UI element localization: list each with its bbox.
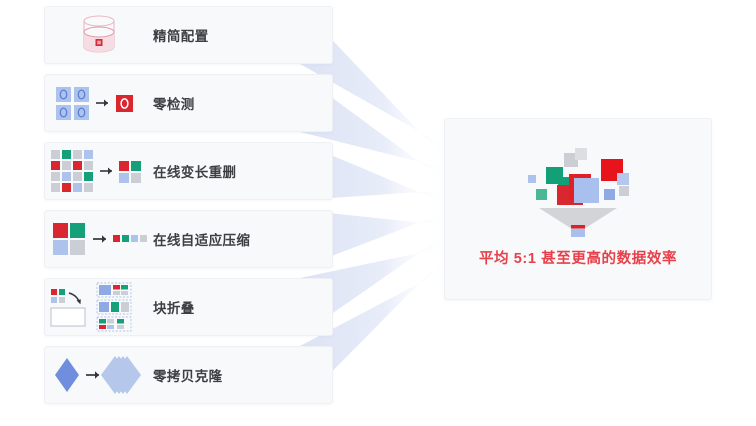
- feature-card-variable-dedup[interactable]: 在线变长重删: [44, 142, 333, 200]
- beaker-thin-provisioning-icon: [45, 6, 153, 64]
- result-panel: 平均 5:1 甚至更高的数据效率: [444, 118, 712, 300]
- feature-label: 零拷贝克隆: [153, 365, 223, 385]
- feature-label: 精简配置: [153, 25, 209, 45]
- feature-card-zero-copy-clone[interactable]: 零拷贝克隆: [44, 346, 333, 404]
- result-caption: 平均 5:1 甚至更高的数据效率: [479, 247, 677, 268]
- online-adaptive-compression-icon: [45, 210, 153, 268]
- feature-label: 在线变长重删: [153, 161, 236, 181]
- block-folding-icon: [45, 278, 153, 336]
- feature-card-block-folding[interactable]: 块折叠: [44, 278, 333, 336]
- feature-card-zero-detection[interactable]: 零检测: [44, 74, 333, 132]
- zero-copy-clone-diamond-icon: [45, 346, 153, 404]
- data-funnel-icon: [503, 141, 653, 237]
- zero-detection-blocks-icon: [45, 74, 153, 132]
- feature-card-thin-provisioning[interactable]: 精简配置: [44, 6, 333, 64]
- feature-label: 块折叠: [153, 297, 195, 317]
- feature-card-list: 精简配置: [44, 6, 333, 414]
- feature-label: 零检测: [153, 93, 195, 113]
- feature-label: 在线自适应压缩: [153, 229, 250, 249]
- diagram-canvas: 精简配置: [0, 0, 756, 426]
- online-variable-dedup-grid-icon: [45, 142, 153, 200]
- feature-card-adaptive-compression[interactable]: 在线自适应压缩: [44, 210, 333, 268]
